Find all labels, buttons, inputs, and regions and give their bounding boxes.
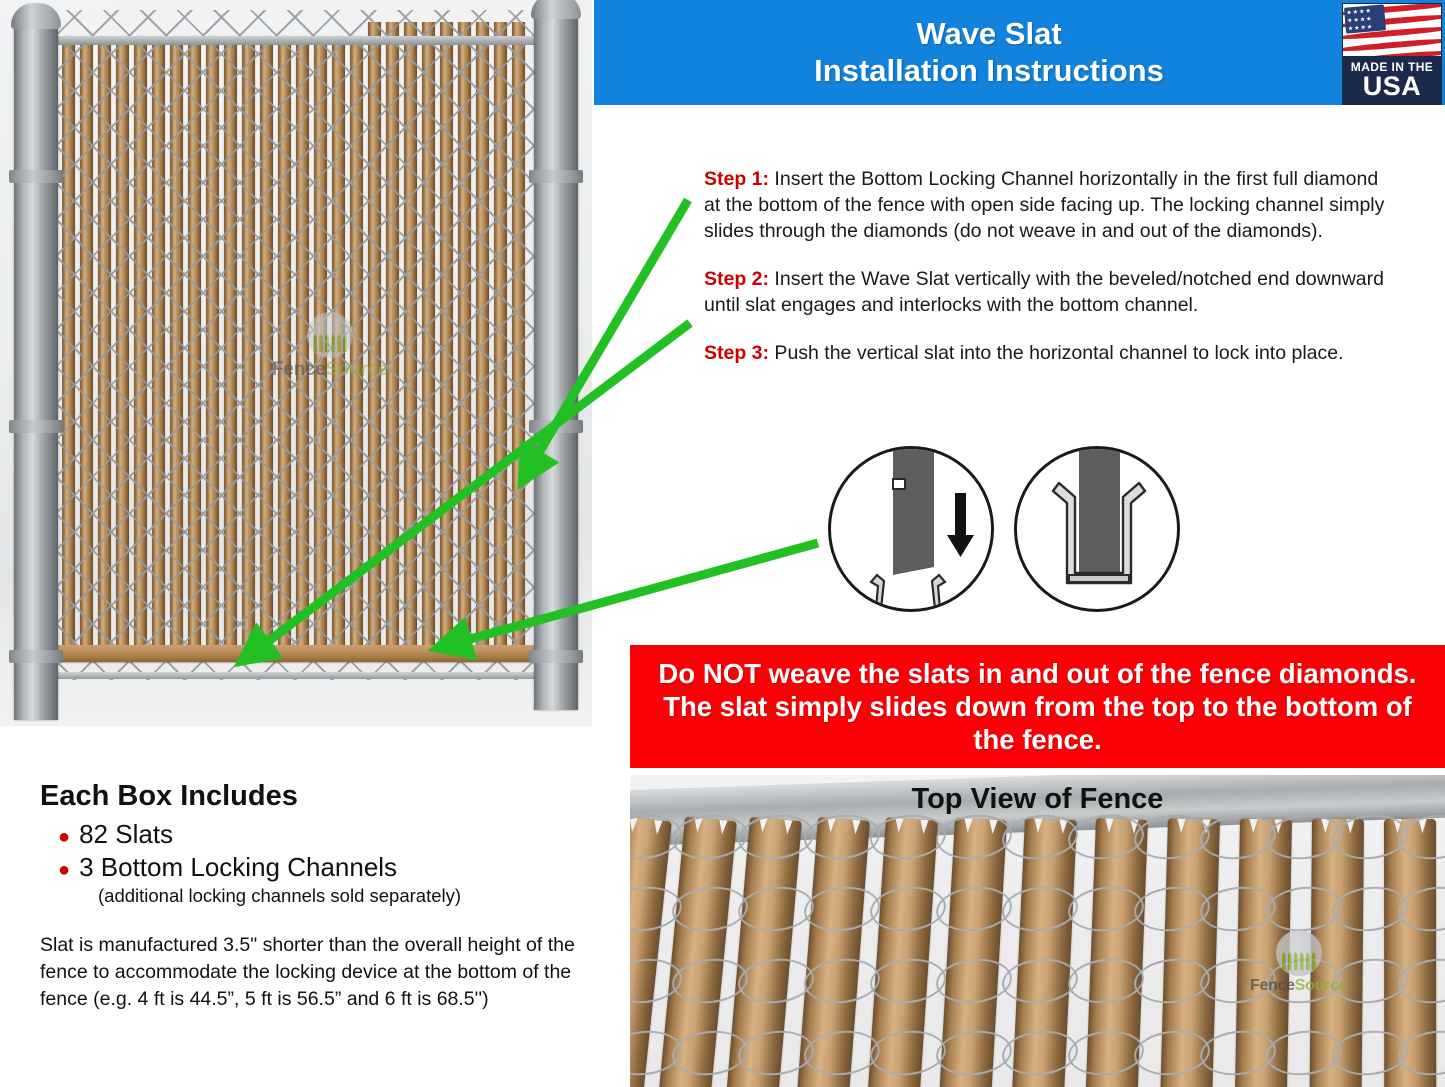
title-line-1: Wave Slat: [916, 16, 1061, 53]
warning-banner: Do NOT weave the slats in and out of the…: [630, 645, 1445, 768]
top-view-photo: Top View of Fence FenceSource: [630, 775, 1445, 1087]
top-view-title: Top View of Fence: [630, 783, 1445, 816]
step-1: Step 1: Insert the Bottom Locking Channe…: [704, 166, 1394, 244]
bullet-dot-icon: ●: [58, 860, 70, 880]
step-2: Step 2: Insert the Wave Slat vertically …: [704, 266, 1394, 318]
step-1-text: Insert the Bottom Locking Channel horizo…: [704, 168, 1384, 242]
post-band: [529, 420, 583, 433]
list-item: ● 82 Slats: [58, 819, 600, 850]
slat-locked-in-channel-diagram: [1014, 446, 1180, 612]
box-item-2: 3 Bottom Locking Channels: [79, 852, 397, 883]
post-band: [9, 420, 63, 433]
step-2-text: Insert the Wave Slat vertically with the…: [704, 268, 1384, 316]
box-includes-subnote: (additional locking channels sold separa…: [98, 885, 600, 907]
list-item: ● 3 Bottom Locking Channels: [58, 852, 600, 883]
post-cap-icon: [531, 0, 581, 19]
bottom-locking-channel: [52, 645, 536, 662]
title-line-2: Installation Instructions: [814, 53, 1164, 90]
slat-dimension-note: Slat is manufactured 3.5" shorter than t…: [40, 932, 600, 1013]
step-3: Step 3: Push the vertical slat into the …: [704, 340, 1394, 366]
fence-post-left: [14, 20, 58, 720]
step-3-text: Push the vertical slat into the horizont…: [769, 342, 1344, 364]
box-item-1: 82 Slats: [79, 819, 173, 850]
step-2-label: Step 2:: [704, 268, 769, 290]
post-band: [9, 170, 63, 183]
chain-link-mesh: [40, 10, 550, 680]
top-rail: [46, 36, 546, 45]
badge-text: MADE IN THE USA: [1343, 56, 1441, 104]
usa-flag-icon: [1343, 4, 1441, 60]
bottom-rail: [40, 672, 545, 679]
header-banner: Wave Slat Installation Instructions MADE…: [594, 0, 1445, 105]
fence-post-right: [534, 10, 578, 710]
locked-diagram-svg: [1017, 449, 1177, 609]
locking-mechanism-diagrams: [828, 446, 1178, 606]
post-cap-icon: [11, 3, 61, 29]
badge-line-2: USA: [1363, 74, 1422, 100]
post-band: [529, 650, 583, 663]
warning-text: Do NOT weave the slats in and out of the…: [630, 657, 1445, 756]
made-in-usa-badge: MADE IN THE USA: [1342, 3, 1442, 105]
slat-inserting-into-channel-diagram: [828, 446, 994, 612]
box-includes-heading: Each Box Includes: [40, 780, 600, 813]
post-band: [529, 170, 583, 183]
post-band: [9, 650, 63, 663]
insert-diagram-svg: [831, 449, 991, 609]
down-arrow-icon: [947, 493, 974, 557]
page-title: Wave Slat Installation Instructions: [594, 0, 1384, 105]
step-1-label: Step 1:: [704, 168, 769, 190]
step-3-label: Step 3:: [704, 342, 769, 364]
each-box-includes-section: Each Box Includes ● 82 Slats ● 3 Bottom …: [40, 780, 600, 907]
fence-installation-photo: FenceSource: [0, 0, 592, 726]
instruction-steps: Step 1: Insert the Bottom Locking Channe…: [704, 146, 1394, 388]
bullet-dot-icon: ●: [58, 827, 70, 847]
